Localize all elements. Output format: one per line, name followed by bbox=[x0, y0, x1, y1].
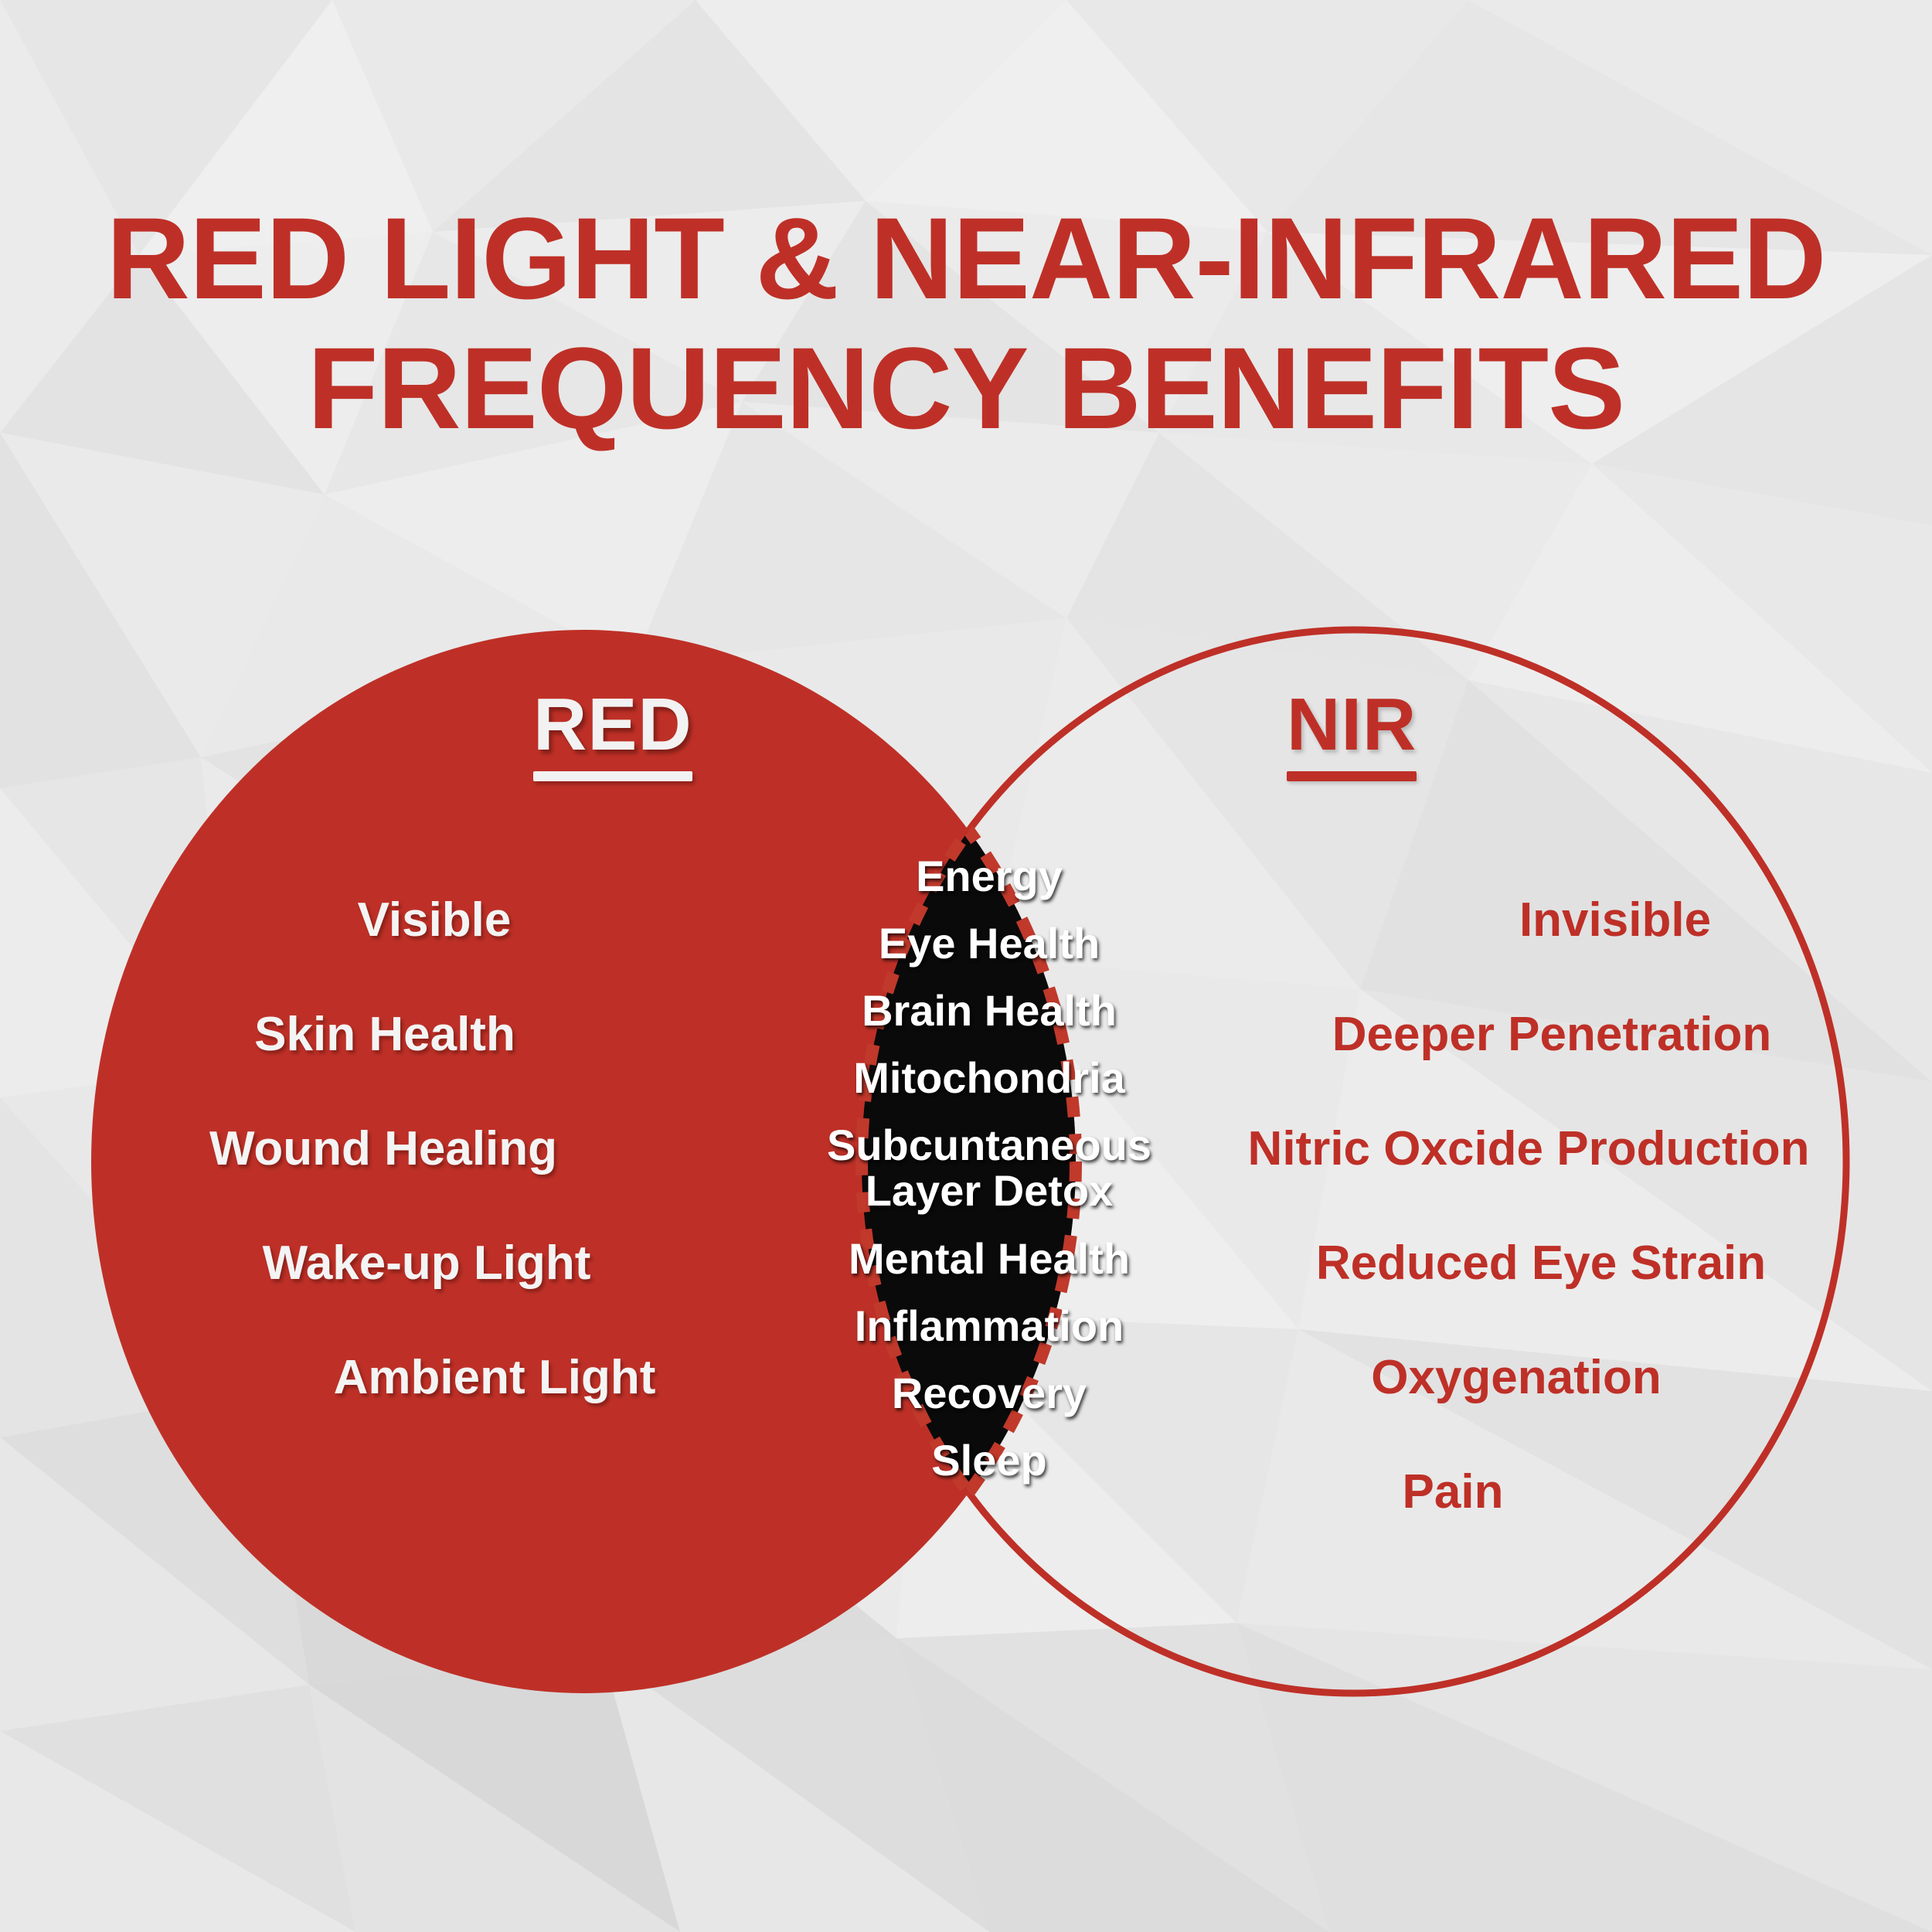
overlap-items-list: Energy Eye Health Brain Health Mitochond… bbox=[835, 854, 1144, 1482]
red-label-underline bbox=[533, 771, 692, 781]
red-item: Skin Health bbox=[254, 1011, 515, 1059]
nir-item: Oxygenation bbox=[1371, 1354, 1662, 1402]
infographic-canvas: RED LIGHT & NEAR-INFRARED FREQUENCY BENE… bbox=[0, 0, 1932, 1932]
nir-circle-label-text: NIR bbox=[1287, 683, 1417, 766]
nir-circle-label: NIR bbox=[1287, 688, 1417, 781]
overlap-item: Eye Health bbox=[879, 921, 1100, 965]
nir-item: Invisible bbox=[1519, 896, 1711, 944]
red-circle-label: RED bbox=[533, 688, 692, 781]
nir-item: Reduced Eye Strain bbox=[1316, 1240, 1766, 1287]
red-items-list: Visible Skin Health Wound Healing Wake-u… bbox=[116, 896, 719, 1402]
overlap-item: Brain Health bbox=[862, 988, 1117, 1032]
overlap-item: Mental Health bbox=[849, 1236, 1130, 1281]
nir-item: Pain bbox=[1403, 1468, 1504, 1516]
red-circle-label-text: RED bbox=[533, 683, 692, 766]
red-item: Visible bbox=[358, 896, 512, 944]
overlap-item: Mitochondria bbox=[853, 1056, 1125, 1100]
overlap-item: Recovery bbox=[892, 1371, 1087, 1415]
overlap-item: Inflammation bbox=[855, 1304, 1124, 1348]
nir-item: Deeper Penetration bbox=[1332, 1011, 1772, 1059]
red-item: Wake-up Light bbox=[263, 1240, 591, 1287]
overlap-item: Sleep bbox=[931, 1438, 1046, 1482]
nir-items-list: Invisible Deeper Penetration Nitric Oxci… bbox=[1190, 896, 1886, 1516]
overlap-item: Energy bbox=[916, 854, 1063, 898]
overlap-item: Subcuntaneous Layer Detox bbox=[827, 1123, 1151, 1213]
nir-label-underline bbox=[1287, 771, 1417, 781]
red-item: Wound Healing bbox=[209, 1125, 557, 1173]
red-item: Ambient Light bbox=[334, 1354, 656, 1402]
nir-item: Nitric Oxcide Production bbox=[1248, 1125, 1810, 1173]
